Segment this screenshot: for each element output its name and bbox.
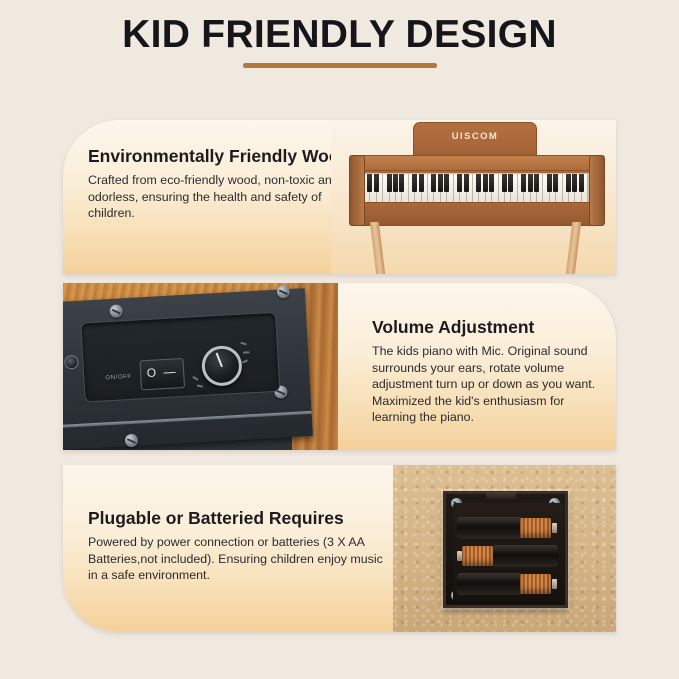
piano-black-key [534,174,539,192]
feature-panel-volume-adjustment: O — ON/OFF Volume Adjustment The kids pi… [63,283,616,450]
panel-2-photo-control-panel: O — ON/OFF [63,283,346,450]
aa-battery [457,545,558,567]
page-header: KID FRIENDLY DESIGN [0,0,679,92]
piano-keyboard [363,173,589,203]
control-panel-face: O — ON/OFF [63,288,313,450]
piano-leg-left [370,222,385,274]
piano-black-key [553,174,558,192]
piano-black-key [387,174,392,192]
piano-black-key [508,174,513,192]
panel-3-photo-battery-compartment [393,465,616,632]
piano-black-key [412,174,417,192]
piano-side-right [589,155,605,226]
aa-battery [457,517,558,539]
panel-3-body: Powered by power connection or batteries… [88,534,393,584]
screw-icon [109,304,123,318]
screw-icon [125,434,139,448]
piano-music-stand: UISCOM [413,122,537,158]
piano-black-key [399,174,404,192]
piano-black-key [521,174,526,192]
panel-1-body: Crafted from eco-friendly wood, non-toxi… [88,172,353,222]
piano-front-panel [353,202,599,226]
power-switch-label: O — [141,364,184,380]
piano-black-key [457,174,462,192]
piano-black-key [444,174,449,192]
piano-black-key [579,174,584,192]
control-panel-recess: O — [80,312,280,403]
feature-panel-environmentally-friendly-wood: Environmentally Friendly Wood Crafted fr… [63,120,616,274]
screw-icon [276,285,290,299]
panel-1-photo-piano: UISCOM [331,120,616,274]
panel-3-text-area: Plugable or Batteried Requires Powered b… [63,465,403,632]
page-title: KID FRIENDLY DESIGN [0,13,679,57]
panel-1-heading: Environmentally Friendly Wood [88,146,350,166]
panel-chrome-strip [63,411,312,428]
piano-brand-logo: UISCOM [414,131,536,142]
piano-black-key [572,174,577,192]
piano-black-key [566,174,571,192]
battery-compartment-interior [453,503,564,602]
battery-compartment-frame [443,491,568,608]
title-underline-accent [243,63,437,68]
piano-black-key [393,174,398,192]
piano-black-key [476,174,481,192]
piano-black-key [367,174,372,192]
piano-illustration: UISCOM [345,122,613,274]
panel-2-text-area: Volume Adjustment The kids piano with Mi… [338,283,616,450]
piano-side-left [349,155,365,226]
piano-leg-right [566,222,581,274]
panel-2-heading: Volume Adjustment [372,317,534,337]
power-rocker-switch[interactable]: O — [139,358,185,390]
piano-black-key [438,174,443,192]
piano-black-key [502,174,507,192]
battery-cover-latch [486,492,516,500]
panel-3-heading: Plugable or Batteried Requires [88,508,344,528]
piano-black-key [547,174,552,192]
piano-black-key [464,174,469,192]
piano-black-key [483,174,488,192]
feature-panel-plugable-or-batteried-requires: Plugable or Batteried Requires Powered b… [63,465,616,632]
piano-black-key [374,174,379,192]
piano-black-key [419,174,424,192]
panel-2-body: The kids piano with Mic. Original sound … [372,343,604,426]
piano-black-key [489,174,494,192]
aa-battery [457,573,558,595]
piano-black-key [431,174,436,192]
piano-black-key [528,174,533,192]
volume-knob-pointer [216,352,223,367]
audio-jack-icon [64,355,79,370]
